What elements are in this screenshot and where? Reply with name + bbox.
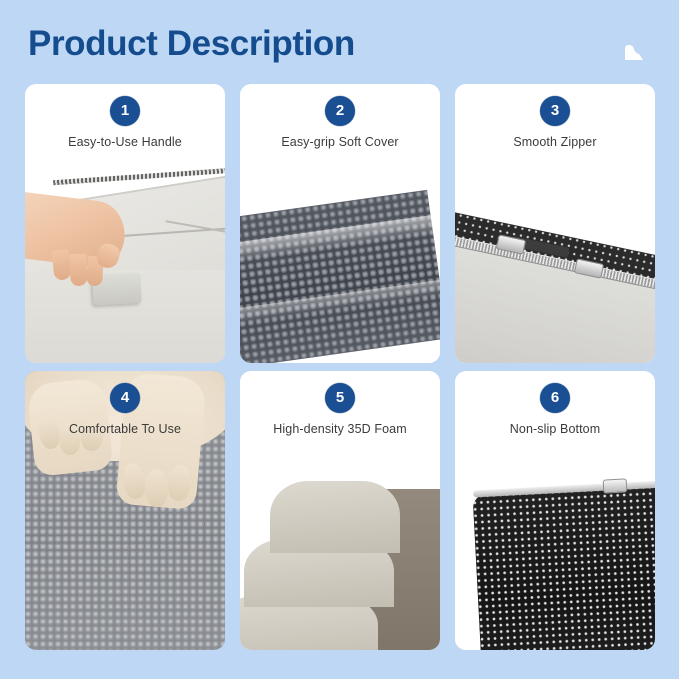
header: Product Description	[0, 0, 679, 84]
feature-card-3[interactable]: 3 Smooth Zipper	[455, 84, 655, 363]
feature-image-1	[25, 166, 225, 363]
card-label-3: Smooth Zipper	[455, 135, 655, 149]
step-badge-5: 5	[325, 383, 355, 413]
feature-card-4[interactable]: 4 Comfortable To Use	[25, 371, 225, 650]
step-badge-3: 3	[540, 96, 570, 126]
card-label-6: Non-slip Bottom	[455, 422, 655, 436]
card-header-3: 3 Smooth Zipper	[455, 84, 655, 149]
feature-image-2	[240, 166, 440, 363]
feature-image-4	[25, 371, 225, 650]
card-label-5: High-density 35D Foam	[240, 422, 440, 436]
page-title: Product Description	[28, 24, 355, 64]
step-badge-2: 2	[325, 96, 355, 126]
card-header-5: 5 High-density 35D Foam	[240, 371, 440, 436]
feature-image-6	[455, 453, 655, 650]
cloud-corner-icon	[621, 41, 643, 60]
feature-card-5[interactable]: 5 High-density 35D Foam	[240, 371, 440, 650]
feature-image-5	[240, 453, 440, 650]
product-description-infographic: Product Description	[0, 0, 679, 679]
card-header-6: 6 Non-slip Bottom	[455, 371, 655, 436]
card-label-1: Easy-to-Use Handle	[25, 135, 225, 149]
feature-card-grid: 1 Easy-to-Use Handle 2 Easy-grip Soft Co…	[25, 84, 655, 650]
feature-card-2[interactable]: 2 Easy-grip Soft Cover	[240, 84, 440, 363]
step-badge-1: 1	[110, 96, 140, 126]
feature-card-1[interactable]: 1 Easy-to-Use Handle	[25, 84, 225, 363]
card-header-1: 1 Easy-to-Use Handle	[25, 84, 225, 149]
feature-image-3	[455, 166, 655, 363]
card-label-2: Easy-grip Soft Cover	[240, 135, 440, 149]
feature-card-6[interactable]: 6 Non-slip Bottom	[455, 371, 655, 650]
step-badge-6: 6	[540, 383, 570, 413]
card-header-2: 2 Easy-grip Soft Cover	[240, 84, 440, 149]
